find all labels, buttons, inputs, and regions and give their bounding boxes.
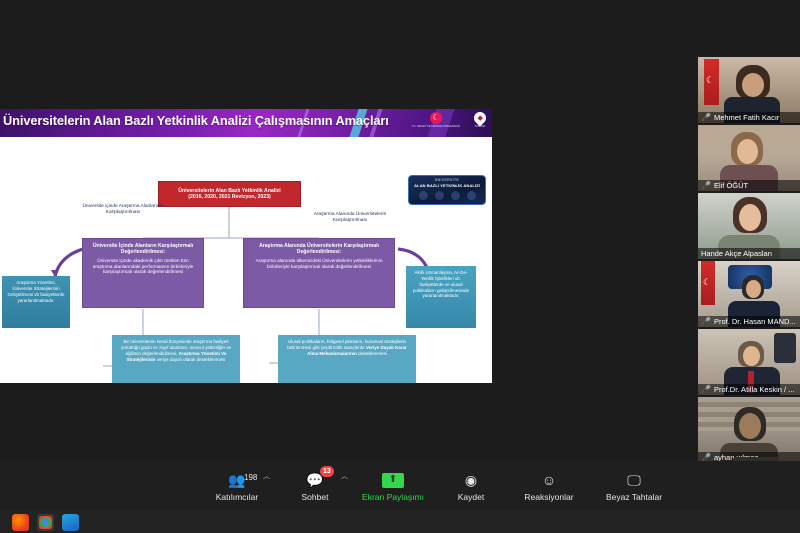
purple-right-body: Araştırma alanında ülkemizdeki Üniversit… xyxy=(249,258,389,270)
chat-unread-badge: 13 xyxy=(320,466,334,477)
toolbar-share-screen-label: Ekran Paylaşımı xyxy=(362,492,424,502)
video-tile-5[interactable]: 🎤 ayhan yılmaz xyxy=(698,397,800,463)
diagram-title-line-2: (2016, 2020, 2021 Revizyon, 2023) xyxy=(188,194,270,201)
chevron-up-icon[interactable]: ︿ xyxy=(263,471,270,481)
participant-name-bar-1: 🎤 Elif ÖĞÜT xyxy=(698,180,800,191)
toolbar-record-button[interactable]: ◉ Kaydet xyxy=(432,463,510,509)
participant-name-bar-4: 🎤 Prof.Dr. Atilla Keskin / ... xyxy=(698,384,800,395)
toolbar-chat-label: Sohbet xyxy=(302,492,329,502)
teal-box-bottom-right: Ulusal politikaların, bölgesel planların… xyxy=(278,335,416,383)
zoom-meeting-window: Üniversitelerin Alan Bazlı Yetkinlik Ana… xyxy=(0,0,800,533)
participant-name-bar-2: Hande Akçe Alpaslan xyxy=(698,248,800,259)
toolbar-reactions-button[interactable]: ☺ Reaksiyonlar xyxy=(510,463,588,509)
record-icon: ◉ xyxy=(465,471,477,490)
participant-name-3: Prof. Dr. Hasan MAND... xyxy=(714,317,796,326)
toolbar-participants-label: Katılımcılar xyxy=(216,492,259,502)
toolbar-reactions-label: Reaksiyonlar xyxy=(524,492,573,502)
badge-line-2: ALAN BAZLI YETKİNLİK ANALİZİ xyxy=(414,183,480,188)
toolbar-whiteboard-button[interactable]: 🖵 Beyaz Tahtalar xyxy=(588,463,680,509)
chevron-up-icon[interactable]: ︿ xyxy=(341,471,348,481)
person-face xyxy=(742,73,764,97)
video-tile-1[interactable]: 🎤 Elif ÖĞÜT xyxy=(698,125,800,191)
video-tile-4[interactable]: 🎤 Prof.Dr. Atilla Keskin / ... xyxy=(698,329,800,395)
badge-line-1: ÜNİVERSİTE xyxy=(435,178,459,182)
participants-count: 198 xyxy=(244,473,257,482)
teal-box-bottom-left: Bir üniversitenin kendi bünyesinde araşt… xyxy=(112,335,240,383)
app-icon[interactable] xyxy=(62,514,79,531)
toolbar-chat-button[interactable]: 💬 13 ︿ Sohbet xyxy=(276,463,354,509)
person-face xyxy=(739,413,761,439)
toolbar-whiteboard-label: Beyaz Tahtalar xyxy=(606,492,662,502)
ministry-mark-icon: ☾ xyxy=(430,112,442,124)
purple-left-body: Üniversite içinde akademik çıktı üretile… xyxy=(88,258,198,276)
participant-name-2: Hande Akçe Alpaslan xyxy=(701,249,772,258)
person-face xyxy=(737,139,758,164)
teal-box-far-right: Akıllı Uzmanlaşma, Ar-Ge-Yenilik İşbirli… xyxy=(406,266,476,328)
tubitak-mark-icon: ◆ xyxy=(472,110,489,127)
purple-box-right: Araştırma Alanında Üniversitelerin Karşı… xyxy=(243,238,395,308)
reactions-icon: ☺ xyxy=(542,471,556,490)
flag-decor xyxy=(704,59,719,105)
emblem-decor xyxy=(774,333,796,363)
purple-left-heading: Üniversite İçinde Alanların Karşılaştırm… xyxy=(88,243,198,256)
slide-header-banner: Üniversitelerin Alan Bazlı Yetkinlik Ana… xyxy=(0,109,492,137)
badge-icon-row xyxy=(419,191,476,200)
analysis-badge-logo: ÜNİVERSİTE ALAN BAZLI YETKİNLİK ANALİZİ xyxy=(408,175,486,205)
shared-screen-slide[interactable]: Üniversitelerin Alan Bazlı Yetkinlik Ana… xyxy=(0,109,492,383)
mic-muted-icon: 🎤 xyxy=(701,318,711,326)
teal-br-part2: desteklenmesi xyxy=(357,351,387,356)
person-face xyxy=(743,346,760,366)
participant-name-bar-3: 🎤 Prof. Dr. Hasan MAND... xyxy=(698,316,800,327)
toolbar-record-label: Kaydet xyxy=(458,492,484,502)
participant-name-0: Mehmet Fatih Kacır xyxy=(714,113,779,122)
participant-name-bar-0: 🎤 Mehmet Fatih Kacır xyxy=(698,112,800,123)
caption-right: Araştırma Alanında Üniversitelerin Karşı… xyxy=(312,212,388,225)
share-screen-icon: ⬆ xyxy=(382,471,404,490)
video-tile-3[interactable]: 🎤 Prof. Dr. Hasan MAND... xyxy=(698,261,800,327)
slide-body: ÜNİVERSİTE ALAN BAZLI YETKİNLİK ANALİZİ … xyxy=(0,137,492,383)
slide-title: Üniversitelerin Alan Bazlı Yetkinlik Ana… xyxy=(3,113,389,128)
video-tile-2[interactable]: Hande Akçe Alpaslan xyxy=(698,193,800,259)
ministry-logo: ☾ T.C. SANAYİ VE TEKNOLOJİ BAKANLIĞI xyxy=(412,112,460,128)
flag-decor xyxy=(701,261,715,305)
toolbar-share-screen-button[interactable]: ⬆ Ekran Paylaşımı xyxy=(354,463,432,509)
whiteboard-icon: 🖵 xyxy=(627,471,641,490)
chrome-icon xyxy=(39,516,52,529)
ministry-logo-caption: T.C. SANAYİ VE TEKNOLOJİ BAKANLIĞI xyxy=(412,125,460,128)
tubitak-logo: ◆ TÜBİTAK xyxy=(474,112,486,128)
teal-box-far-left: Araştırma Yönetimi, Üniversite Stratejil… xyxy=(2,276,70,328)
caption-left: Üniversite içinde Araştırma Alanlarının … xyxy=(80,204,166,217)
teal-bl-part2: veriye dayalı olarak desteklenmesi xyxy=(155,357,225,362)
os-taskbar[interactable] xyxy=(0,511,800,533)
video-tile-0[interactable]: 🎤 Mehmet Fatih Kacır xyxy=(698,57,800,123)
purple-right-heading: Araştırma Alanında Üniversitelerin Karşı… xyxy=(249,243,389,256)
person-face xyxy=(739,204,761,231)
firefox-icon[interactable] xyxy=(12,514,29,531)
mic-muted-icon: 🎤 xyxy=(701,182,711,190)
person-face xyxy=(746,280,761,298)
participant-video-strip[interactable]: 🎤 Mehmet Fatih Kacır 🎤 Elif ÖĞÜT xyxy=(698,57,800,465)
toolbar-participants-button[interactable]: 👥 198 ︿ Katılımcılar xyxy=(198,463,276,509)
mic-muted-icon: 🎤 xyxy=(701,386,711,394)
participant-name-1: Elif ÖĞÜT xyxy=(714,181,748,190)
purple-box-left: Üniversite İçinde Alanların Karşılaştırm… xyxy=(82,238,204,308)
chrome-icon-wrap[interactable] xyxy=(37,514,54,531)
participant-name-4: Prof.Dr. Atilla Keskin / ... xyxy=(714,385,794,394)
diagram-title-box: Üniversitelerin Alan Bazlı Yetkinlik Ana… xyxy=(158,181,301,207)
mic-muted-icon: 🎤 xyxy=(701,114,711,122)
header-logo-group: ☾ T.C. SANAYİ VE TEKNOLOJİ BAKANLIĞI ◆ T… xyxy=(412,112,486,128)
meeting-toolbar: 👥 198 ︿ Katılımcılar 💬 13 ︿ Sohbet ⬆ Ekr… xyxy=(0,461,800,511)
